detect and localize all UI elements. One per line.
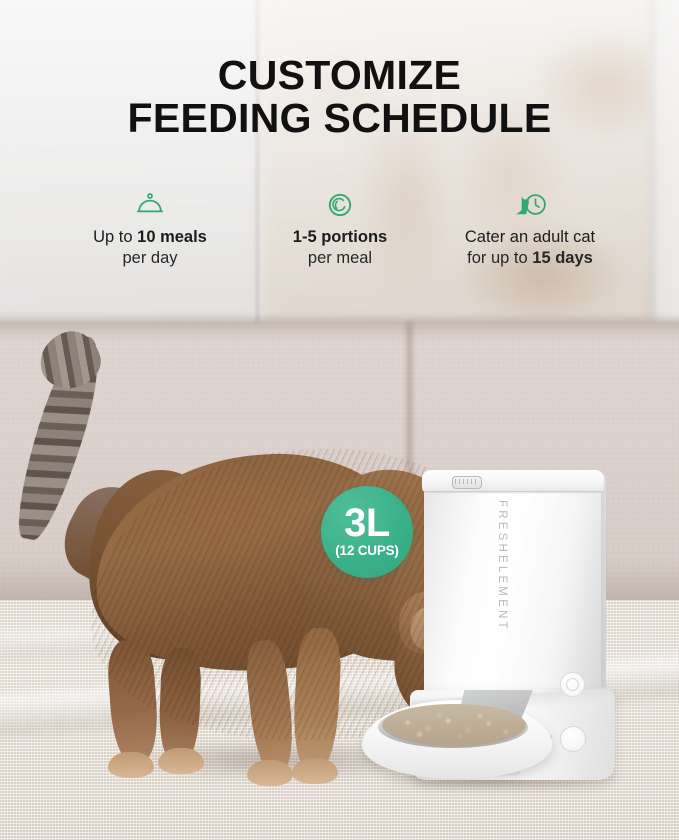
feature-meals-per-day: Up to 10 meals per day bbox=[60, 188, 240, 269]
feature-line-secondary: per meal bbox=[250, 248, 430, 269]
feature-portions-per-meal: 1-5 portions per meal bbox=[250, 188, 430, 269]
feeder-manual-feed-button[interactable] bbox=[560, 726, 586, 752]
feature-line-primary: Up to 10 meals bbox=[60, 227, 240, 248]
page-title: CUSTOMIZE FEEDING SCHEDULE bbox=[0, 54, 679, 141]
power-icon bbox=[566, 678, 579, 691]
feature-row: Up to 10 meals per day 1-5 portions per … bbox=[60, 188, 620, 278]
feeder-lid[interactable] bbox=[422, 470, 604, 492]
cat-food-kibble bbox=[382, 704, 526, 746]
marketing-image-stage: FRESHELEMENT 3L (12 CUPS) CUSTOMIZE FEED… bbox=[0, 0, 679, 840]
cloche-icon bbox=[60, 188, 240, 222]
feature-text-prefix: Up to bbox=[93, 228, 137, 246]
feature-line-secondary: for up to 15 days bbox=[440, 248, 620, 269]
headline-line-1: CUSTOMIZE bbox=[218, 52, 461, 98]
capacity-badge: 3L (12 CUPS) bbox=[321, 486, 413, 578]
feature-text-emphasis: 1-5 portions bbox=[293, 228, 387, 246]
portion-dial-icon bbox=[250, 188, 430, 222]
cat-clock-icon bbox=[440, 188, 620, 222]
headline-line-2: FEEDING SCHEDULE bbox=[0, 97, 679, 140]
feature-days-capacity: Cater an adult cat for up to 15 days bbox=[440, 188, 620, 269]
feeder-brand-text: FRESHELEMENT bbox=[496, 500, 508, 632]
feature-line-secondary: per day bbox=[60, 248, 240, 269]
feature-text-emphasis: 15 days bbox=[532, 249, 593, 267]
capacity-cups-label: (12 CUPS) bbox=[335, 544, 398, 558]
feature-text-emphasis: 10 meals bbox=[137, 228, 207, 246]
feeder-lid-seam bbox=[424, 491, 604, 494]
capacity-volume-label: 3L bbox=[344, 505, 390, 542]
feeder-latch-grip-ribs bbox=[455, 479, 477, 484]
feature-line-primary: Cater an adult cat bbox=[440, 227, 620, 248]
feature-text-prefix: for up to bbox=[467, 249, 532, 267]
feature-line-primary: 1-5 portions bbox=[250, 227, 430, 248]
